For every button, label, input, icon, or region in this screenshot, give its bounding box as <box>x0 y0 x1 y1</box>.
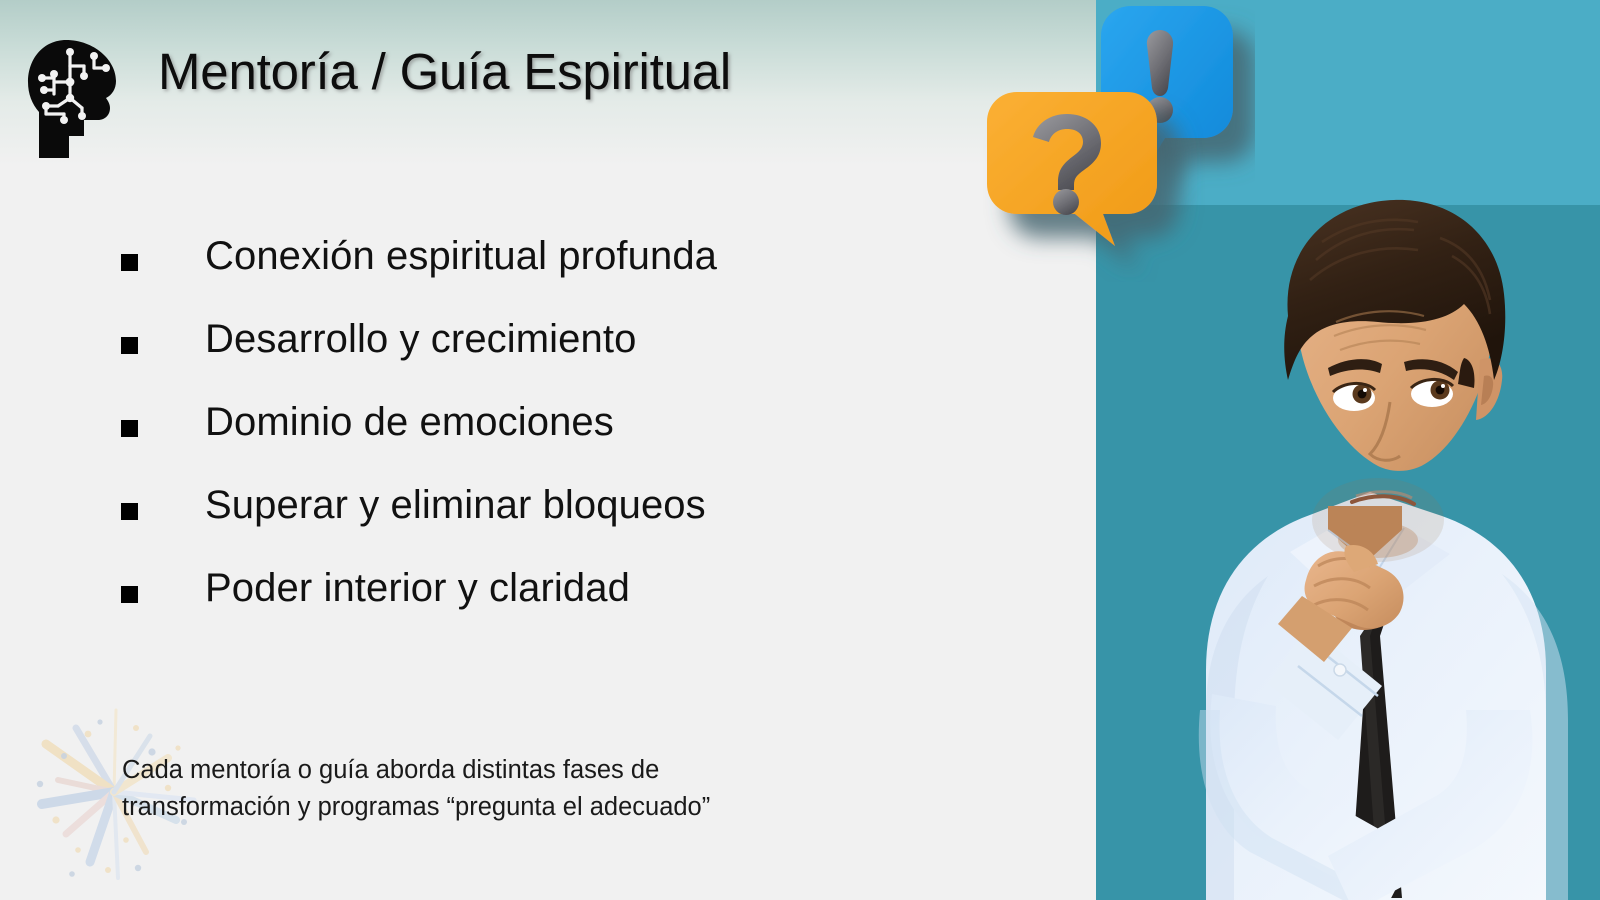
caption-line-1: Cada mentoría o guía aborda distintas fa… <box>122 752 882 789</box>
bullet-label: Dominio de emociones <box>205 400 614 445</box>
list-item: Conexión espiritual profunda <box>0 240 1000 323</box>
bullet-label: Poder interior y claridad <box>205 566 630 611</box>
bullet-list: Conexión espiritual profunda Desarrollo … <box>0 240 1000 655</box>
bullet-label: Superar y eliminar bloqueos <box>205 483 706 528</box>
bullet-square-icon <box>121 337 138 354</box>
page-title: Mentoría / Guía Espiritual <box>158 42 731 101</box>
brain-head-icon <box>22 38 130 160</box>
list-item: Desarrollo y crecimiento <box>0 323 1000 406</box>
list-item: Dominio de emociones <box>0 406 1000 489</box>
caption-line-2: transformación y programas “pregunta el … <box>122 789 882 826</box>
bullet-square-icon <box>121 254 138 271</box>
bullet-square-icon <box>121 586 138 603</box>
speech-bubbles-group <box>955 0 1255 282</box>
bullet-square-icon <box>121 420 138 437</box>
bullet-square-icon <box>121 503 138 520</box>
slide-header: Mentoría / Guía Espiritual <box>0 34 1096 149</box>
bullet-label: Conexión espiritual profunda <box>205 234 717 279</box>
list-item: Superar y eliminar bloqueos <box>0 489 1000 572</box>
list-item: Poder interior y claridad <box>0 572 1000 655</box>
bullet-label: Desarrollo y crecimiento <box>205 317 636 362</box>
caption-text: Cada mentoría o guía aborda distintas fa… <box>122 752 882 826</box>
slide-canvas: Mentoría / Guía Espiritual Conexión espi… <box>0 0 1600 900</box>
